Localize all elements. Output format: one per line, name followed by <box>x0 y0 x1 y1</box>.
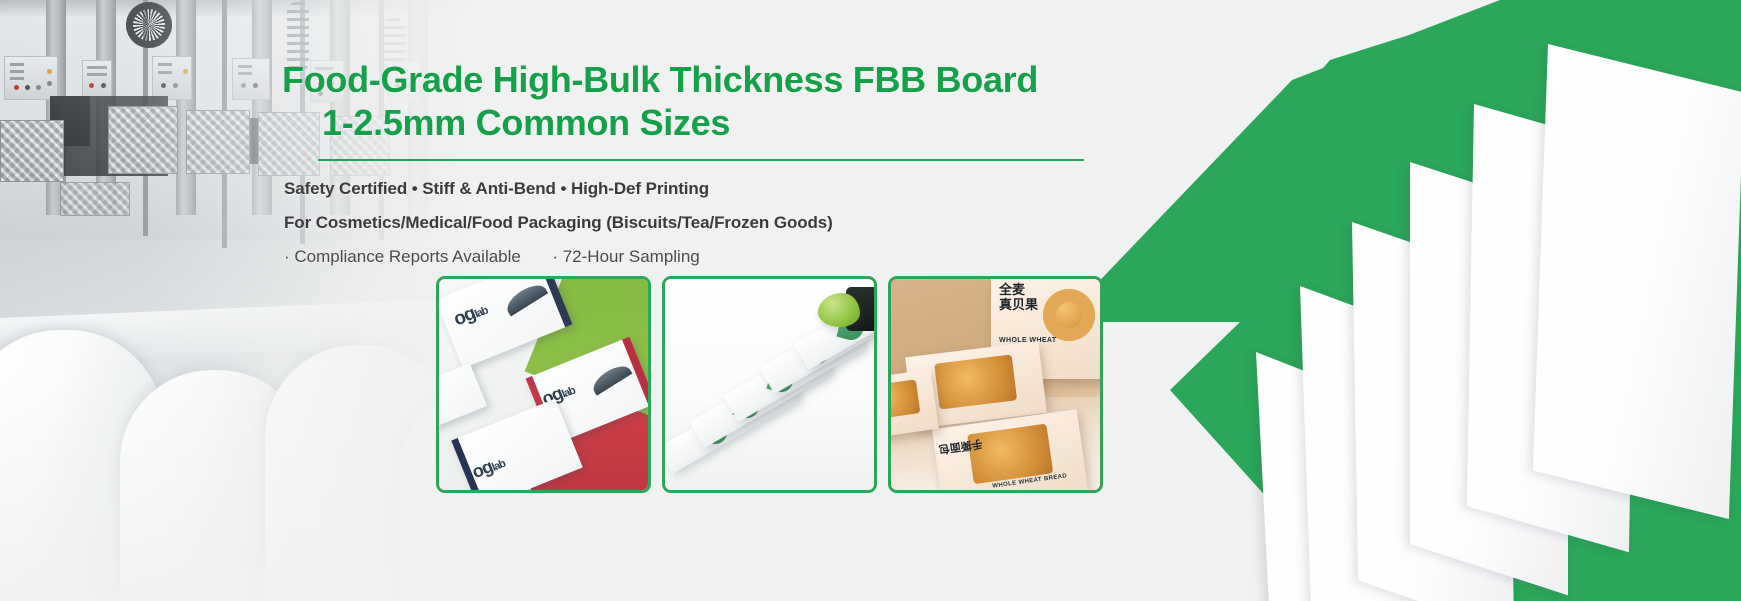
swoosh-graphic <box>502 280 548 317</box>
board-sheet <box>1533 44 1741 519</box>
divider <box>318 159 1084 161</box>
swoosh-graphic <box>589 361 633 396</box>
pastry-photo <box>934 354 1017 409</box>
product-photo-bread-cartons: 全麦 真贝果 WHOLE WHEAT BREAD 喜欢面包 手撕面包 WHOLE… <box>891 279 1100 490</box>
right-decorative-art <box>1000 0 1741 601</box>
feature-line-3: · Compliance Reports Available · 72-Hour… <box>284 247 1102 267</box>
feature-list: Safety Certified • Stiff & Anti-Bend • H… <box>284 179 1102 267</box>
page-title: Food-Grade High-Bulk Thickness FBB Board… <box>282 58 1102 144</box>
pastry-photo <box>967 424 1053 485</box>
bagel-photo <box>1043 289 1095 341</box>
green-soap-object <box>818 293 860 327</box>
brand-logo: oglab <box>451 298 491 331</box>
product-card-food-bread[interactable]: 全麦 真贝果 WHOLE WHEAT BREAD 喜欢面包 手撕面包 WHOLE… <box>888 276 1103 493</box>
carton-cn-title: 全麦 <box>999 283 1025 296</box>
brand-logo: oglab <box>469 451 507 483</box>
product-banner: Food-Grade High-Bulk Thickness FBB Board… <box>0 0 1741 601</box>
product-photo-cosmetic-cartons: oglab oglab oglab <box>439 279 648 490</box>
headline-line-1: Food-Grade High-Bulk Thickness FBB Board <box>282 59 1038 100</box>
feature-line-2: For Cosmetics/Medical/Food Packaging (Bi… <box>284 213 1102 233</box>
product-card-hotel-amenity[interactable]: HOTEL HOTEL HOTEL HOTEL <box>662 276 877 493</box>
feature-line-3-item-1: · Compliance Reports Available <box>284 247 521 266</box>
product-image-gallery: oglab oglab oglab <box>436 276 1103 493</box>
product-photo-hotel-boxes: HOTEL HOTEL HOTEL HOTEL <box>665 279 874 490</box>
carton-cn-title: 真贝果 <box>999 298 1038 311</box>
pastry-photo <box>888 379 920 420</box>
product-card-cosmetic-medical[interactable]: oglab oglab oglab <box>436 276 651 493</box>
feature-line-1: Safety Certified • Stiff & Anti-Bend • H… <box>284 179 1102 199</box>
headline-line-2: 1-2.5mm Common Sizes <box>282 101 1102 144</box>
feature-line-3-item-2: · 72-Hour Sampling <box>552 247 699 266</box>
headline-block: Food-Grade High-Bulk Thickness FBB Board… <box>282 58 1102 267</box>
